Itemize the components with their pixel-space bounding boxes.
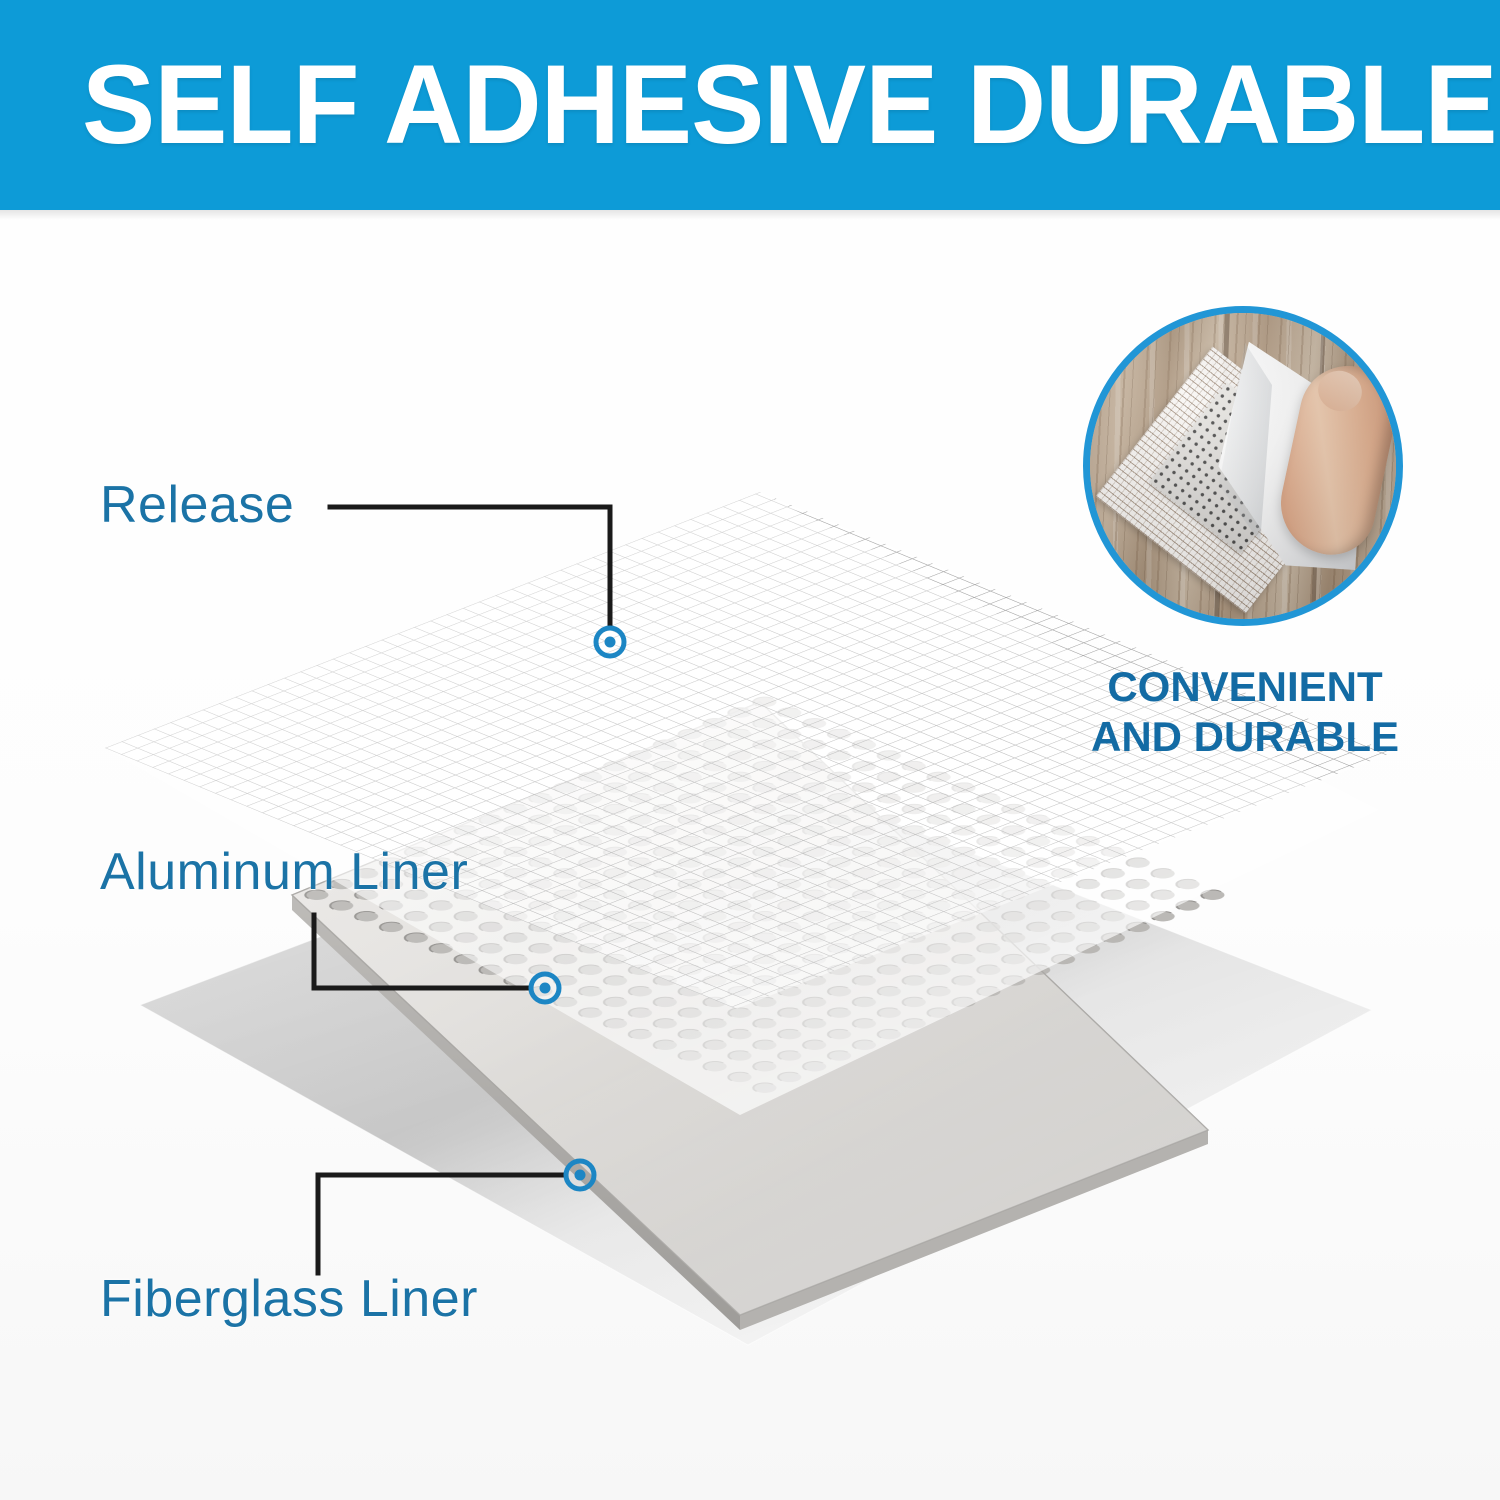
- marker-release[interactable]: [593, 625, 627, 659]
- header-banner: SELF ADHESIVE DURABLE: [0, 0, 1500, 210]
- marker-aluminum-liner[interactable]: [528, 971, 562, 1005]
- inset-photo-circle: [1083, 306, 1403, 626]
- exploded-layer-diagram: Release Aluminum Liner Fiberglass Liner …: [0, 210, 1500, 1500]
- banner-title: SELF ADHESIVE DURABLE: [82, 49, 1497, 161]
- inset-caption: CONVENIENT AND DURABLE: [1060, 662, 1430, 761]
- layer-label-fiberglass-liner: Fiberglass Liner: [100, 1269, 478, 1329]
- inset-caption-line-2: AND DURABLE: [1060, 712, 1430, 762]
- marker-fiberglass-liner[interactable]: [563, 1158, 597, 1192]
- inset-vignette: [1083, 306, 1403, 626]
- inset-photo: [1083, 306, 1403, 626]
- layer-label-release: Release: [100, 475, 294, 535]
- product-infographic: SELF ADHESIVE DURABLE: [0, 0, 1500, 1500]
- layer-label-aluminum-liner: Aluminum Liner: [100, 842, 468, 902]
- leader-line-fiberglass: [318, 1175, 563, 1273]
- leader-line-aluminum: [314, 915, 528, 988]
- leader-line-release: [330, 507, 610, 625]
- inset-caption-line-1: CONVENIENT: [1060, 662, 1430, 712]
